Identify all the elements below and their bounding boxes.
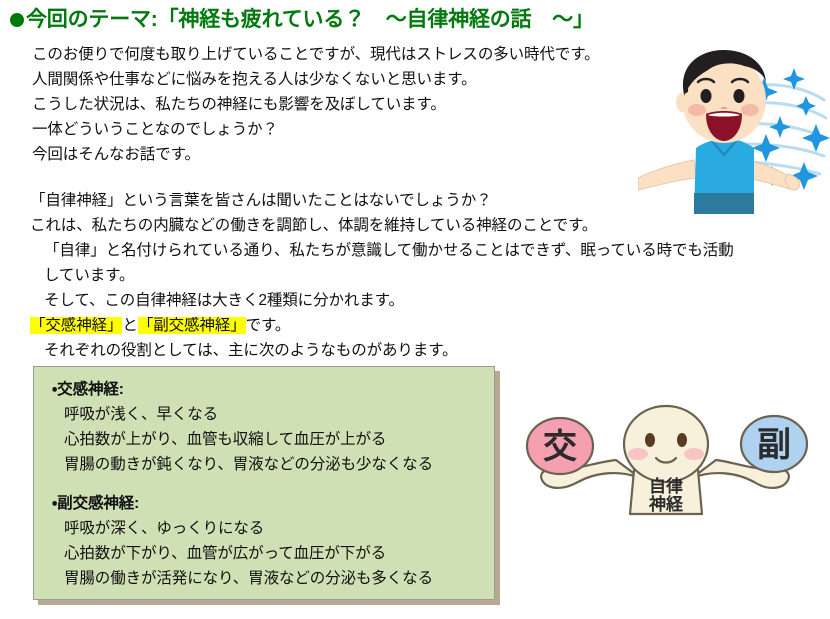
parasympathetic-item-2: 心拍数が下がり、血管が広がって血圧が下がる: [52, 541, 433, 566]
badge-sympathetic-label: 交: [543, 428, 577, 466]
jiritsu-line-3: 「自律」と名付けられている通り、私たちが意識して働かせることはできず、眠っている…: [30, 238, 734, 263]
badge-parasympathetic-label: 副: [757, 426, 791, 464]
sympathetic-item-3: 胃腸の動きが鈍くなり、胃液などの分泌も少なくなる: [52, 452, 433, 477]
sympathetic-item-2: 心拍数が上がり、血管も収縮して血圧が上がる: [52, 427, 433, 452]
jiritsu-line-4: しています。: [30, 263, 734, 288]
parasympathetic-item-3: 胃腸の働きが活発になり、胃液などの分泌も多くなる: [52, 566, 433, 591]
document-page: 今回のテーマ:「神経も疲れている？ ～自律神経の話 ～」 このお便りで何度も取り…: [0, 0, 830, 619]
sympathetic-heading: ・交感神経:: [52, 377, 433, 402]
man-shirt: [694, 139, 754, 214]
nerve-body-label-line1: 自律: [649, 476, 683, 496]
highlight-kokan-shinkei: 「交感神経」: [30, 317, 122, 334]
intro-paragraph: このお便りで何度も取り上げていることですが、現代はストレスの多い時代です。 人間…: [32, 42, 599, 167]
section-spacer: [52, 477, 433, 491]
sympathetic-item-1: 呼吸が浅く、早くなる: [52, 402, 433, 427]
jiritsu-line-7: それぞれの役割としては、主に次のようなものがあります。: [30, 338, 734, 363]
autonomic-nerve-paragraph: 「自律神経」という言葉を皆さんは聞いたことはないでしょうか？ これは、私たちの内…: [30, 188, 734, 363]
page-title-text: 今回のテーマ:「神経も疲れている？ ～自律神経の話 ～」: [26, 8, 594, 32]
intro-line-1: このお便りで何度も取り上げていることですが、現代はストレスの多い時代です。: [32, 42, 599, 67]
green-info-box: ・交感神経: 呼吸が浅く、早くなる 心拍数が上がり、血管も収縮して血圧が上がる …: [33, 366, 495, 600]
intro-line-2: 人間関係や仕事などに悩みを抱える人は少なくないと思います。: [32, 67, 599, 92]
happy-man-illustration: [638, 38, 830, 226]
intro-line-5: 今回はそんなお話です。: [32, 142, 599, 167]
autonomic-nerve-illustration: 自律 神経 交 副: [512, 402, 830, 562]
highlight-fukukokan-shinkei: 「副交感神経」: [138, 317, 246, 334]
intro-line-3: こうした状況は、私たちの神経にも影響を及ぼしています。: [32, 92, 599, 117]
jiritsu-line-1: 「自律神経」という言葉を皆さんは聞いたことはないでしょうか？: [30, 188, 734, 213]
jiritsu-line-6-mid: と: [122, 317, 137, 334]
parasympathetic-item-1: 呼吸が深く、ゆっくりになる: [52, 516, 433, 541]
jiritsu-line-2: これは、私たちの内臓などの働きを調節し、体調を維持している神経のことです。: [30, 213, 734, 238]
jiritsu-line-5: そして、この自律神経は大きく2種類に分かれます。: [30, 288, 734, 313]
jiritsu-line-6-post: です。: [246, 317, 291, 334]
bullet-icon: [10, 13, 24, 27]
parasympathetic-heading: ・副交感神経:: [52, 491, 433, 516]
page-title: 今回のテーマ:「神経も疲れている？ ～自律神経の話 ～」: [10, 8, 594, 32]
nerve-body-label-line2: 神経: [648, 494, 684, 514]
jiritsu-line-6: 「交感神経」と「副交感神経」です。: [30, 313, 734, 338]
green-box-content: ・交感神経: 呼吸が浅く、早くなる 心拍数が上がり、血管も収縮して血圧が上がる …: [52, 377, 433, 591]
intro-line-4: 一体どういうことなのでしょうか？: [32, 117, 599, 142]
badge-sympathetic: 交: [527, 418, 593, 474]
man-head: [676, 50, 766, 143]
badge-parasympathetic: 副: [741, 416, 807, 472]
